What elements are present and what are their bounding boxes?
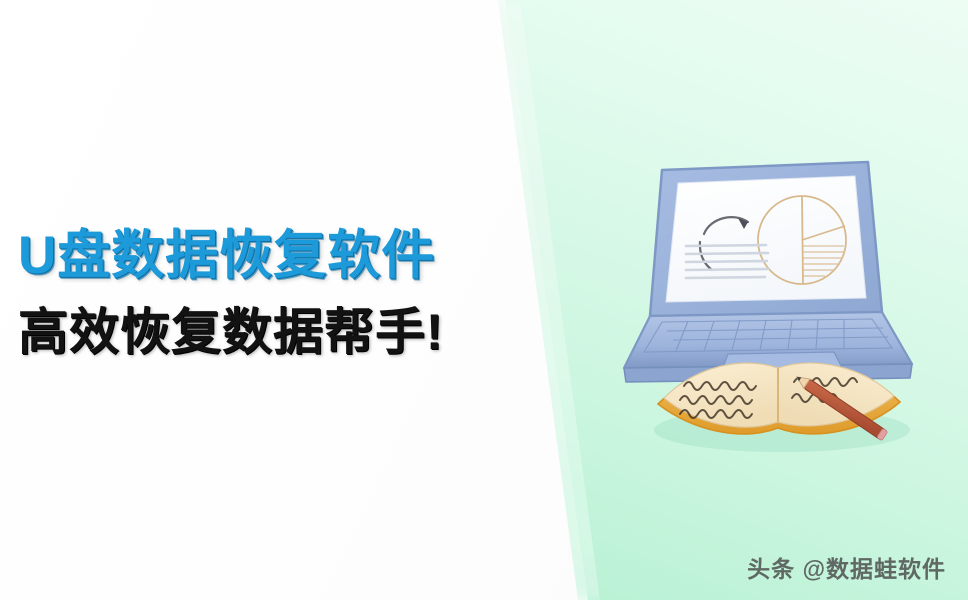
headline-secondary: 高效恢复数据帮手!: [18, 306, 538, 359]
laptop-illustration: [600, 130, 940, 470]
poster-canvas: U盘数据恢复软件 高效恢复数据帮手!: [0, 0, 968, 600]
watermark-at-symbol: [795, 556, 802, 582]
headline-block: U盘数据恢复软件 高效恢复数据帮手!: [18, 228, 538, 359]
watermark-platform: 头条: [747, 557, 795, 583]
laptop-lid: [650, 162, 882, 316]
watermark-account: 数据蛙软件: [826, 557, 946, 583]
watermark: 头条 @数据蛙软件: [747, 550, 946, 584]
watermark-at: @: [803, 556, 826, 582]
headline-primary: U盘数据恢复软件: [18, 228, 538, 284]
